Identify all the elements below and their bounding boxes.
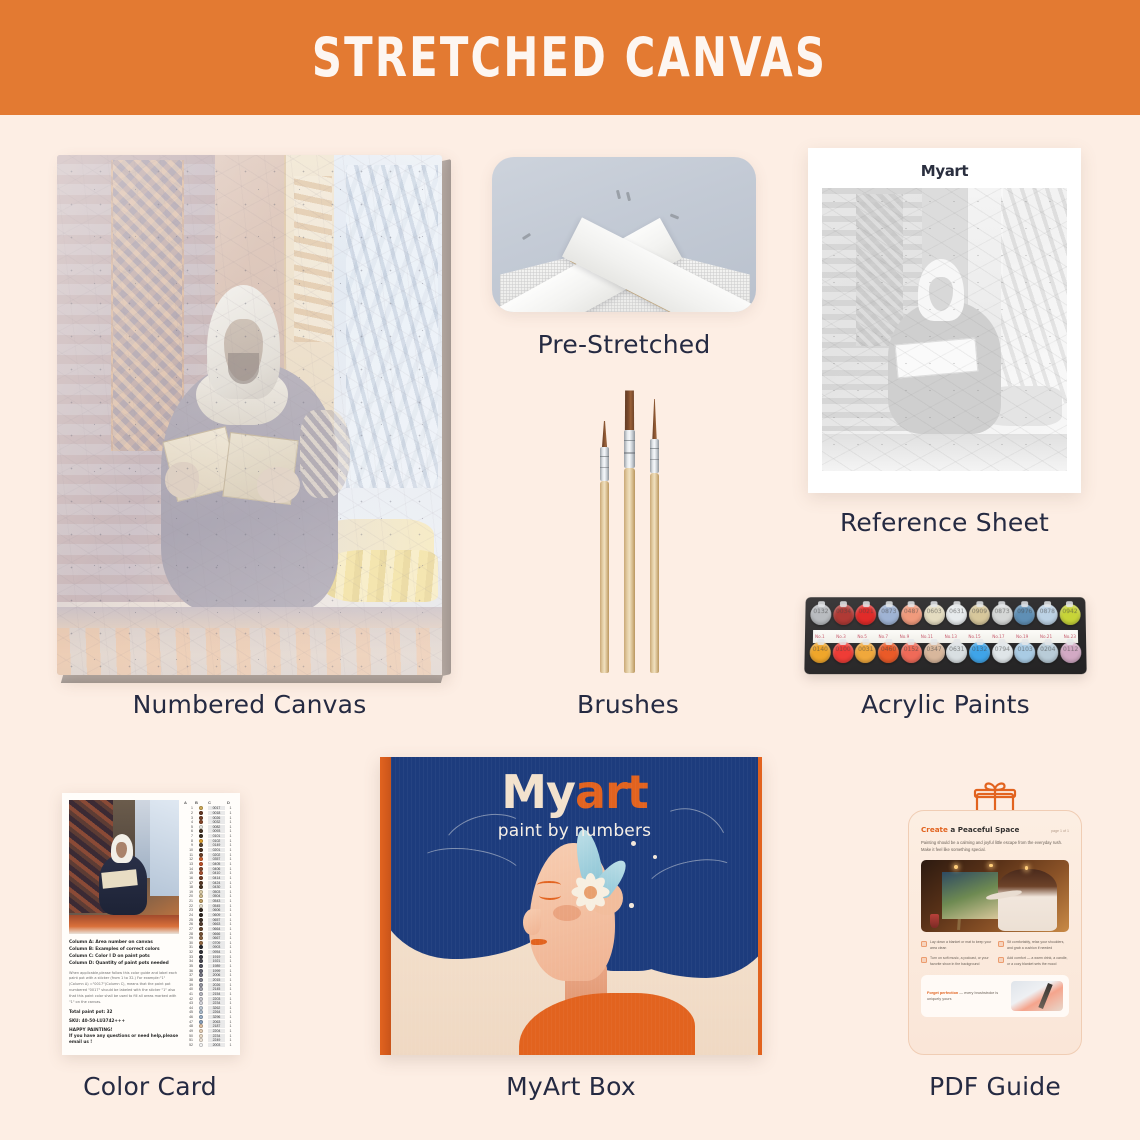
- color-card-col-head: C: [208, 800, 225, 805]
- tip-text: Lay down a blanket or mat to keep your a…: [930, 940, 992, 951]
- paint-pot-id: 0631: [946, 608, 967, 615]
- pdf-guide-note-accent: Forget perfection: [927, 991, 958, 995]
- paint-pot: 0034: [833, 602, 854, 631]
- paint-pot-id: 0103: [1015, 646, 1036, 653]
- paint-pot: 0631: [946, 640, 967, 669]
- tip-text: Sit comfortably, relax your shoulders, a…: [1007, 940, 1069, 951]
- color-card-column-b: Column B: Examples of correct colors: [69, 946, 179, 953]
- paint-pot: 0631: [946, 602, 967, 631]
- paint-pot: 0132: [969, 640, 990, 669]
- color-card-col-head: D: [227, 800, 234, 805]
- pdf-guide-image: Create a Peaceful Space page 1 of 1 Pain…: [900, 780, 1090, 1055]
- paint-pot-id: 0132: [810, 608, 831, 615]
- row-color-swatch: [195, 1043, 206, 1047]
- canvas-edge-right: [442, 159, 451, 676]
- color-card-table-header: ABCD: [184, 800, 234, 805]
- daisy-center: [584, 886, 597, 899]
- paint-pot: 0976: [1014, 602, 1035, 631]
- paint-pot-id: 0873: [878, 608, 899, 615]
- myart-tagline: paint by numbers: [391, 821, 758, 841]
- paint-pot-id: 0460: [878, 646, 899, 653]
- tip-text: Add comfort — a warm drink, a candle, or…: [1007, 956, 1069, 967]
- paint-pot-id: 0034: [833, 608, 854, 615]
- color-card-total: Total paint pot: 32: [69, 1009, 179, 1016]
- tip-icon: [921, 957, 927, 963]
- paint-pot-id: 0873: [992, 608, 1013, 615]
- caption-pdf-guide: PDF Guide: [895, 1072, 1095, 1101]
- staple-icon: [626, 192, 631, 201]
- paint-pot: 0873: [878, 602, 899, 631]
- paint-pot: 0942: [1059, 602, 1080, 631]
- paint-pot: 0878: [1037, 602, 1058, 631]
- paint-pot: 0603: [924, 602, 945, 631]
- acrylic-paints-image: 0132003400210873048706030631090908730976…: [804, 597, 1086, 674]
- pdf-guide-photo: [921, 860, 1069, 932]
- paint-pot-id: 0132: [969, 646, 990, 653]
- myart-box-image: Myart paint by numbers: [380, 757, 762, 1055]
- pdf-guide-page-label: page 1 of 1: [1051, 829, 1069, 833]
- paint-pot-id: 0100: [832, 646, 853, 653]
- canvas-edge-bottom: [61, 675, 443, 683]
- row-color-id: 2003: [208, 1043, 225, 1047]
- paint-pot-id: 0976: [1014, 608, 1035, 615]
- pdf-guide-tips: Lay down a blanket or mat to keep your a…: [921, 940, 1069, 967]
- paint-pot-id: 0031: [855, 646, 876, 653]
- row-area-number: 52: [184, 1043, 193, 1047]
- color-card-sku: SKU: 40-50-LU3742+++: [69, 1018, 179, 1025]
- paint-pot-id: 0021: [856, 608, 877, 615]
- tip-icon: [921, 941, 927, 947]
- color-card-note: When applicable,please follow this color…: [69, 971, 179, 1006]
- paint-pot: 0873: [992, 602, 1013, 631]
- canvas-face: [57, 155, 442, 675]
- pdf-guide-title-rest: a Peaceful Space: [948, 825, 1020, 834]
- paint-pot: 0103: [1015, 640, 1036, 669]
- color-card-column-a: Column A: Area number on canvas: [69, 939, 179, 946]
- color-card-col-head: B: [195, 800, 206, 805]
- brush-flat: [624, 390, 635, 673]
- color-card-contact: If you have any questions or need help,p…: [69, 1033, 179, 1046]
- logo-my: My: [501, 765, 575, 819]
- caption-reference-sheet: Reference Sheet: [808, 508, 1081, 537]
- row-quantity: 1: [227, 1043, 234, 1047]
- paint-pot: 0100: [832, 640, 853, 669]
- color-card-column-c: Column C: Color I D on paint pots: [69, 953, 179, 960]
- paint-pot-id: 0140: [810, 646, 831, 653]
- paint-pot-id: 0794: [992, 646, 1013, 653]
- staple-icon: [670, 213, 679, 219]
- paint-pot-id: 0909: [969, 608, 990, 615]
- paint-pot: 0347: [923, 640, 944, 669]
- reference-sheet-artwork: [822, 188, 1067, 471]
- caption-pre-stretched: Pre-Stretched: [492, 330, 756, 359]
- pdf-guide-note-thumbnail: [1011, 981, 1063, 1011]
- logo-art: art: [575, 765, 648, 819]
- pre-stretched-image: [492, 157, 756, 312]
- brush-detail: [650, 401, 659, 673]
- tip-text: Turn on soft music, a podcast, or your f…: [930, 956, 992, 967]
- paint-pot: 0112: [1060, 640, 1082, 669]
- page-title: STRETCHED CANVAS: [312, 26, 827, 89]
- pdf-guide-description: Painting should be a calming and joyful …: [921, 839, 1069, 853]
- paint-pot: 0487: [901, 602, 922, 631]
- tip-icon: [998, 941, 1004, 947]
- numbered-canvas-image: [57, 155, 442, 675]
- caption-color-card: Color Card: [40, 1072, 260, 1101]
- caption-acrylic-paints: Acrylic Paints: [805, 690, 1086, 719]
- paint-pot-id: 0347: [924, 646, 945, 653]
- product-infographic: STRETCHED CANVAS Numbered Canvas: [0, 0, 1140, 1140]
- pdf-guide-tip: Add comfort — a warm drink, a candle, or…: [998, 956, 1069, 967]
- paint-pot: 0132: [810, 602, 831, 631]
- paint-pot-number: No.9: [900, 634, 910, 639]
- pdf-guide-page: Create a Peaceful Space page 1 of 1 Pain…: [908, 810, 1082, 1055]
- paint-pot: 0794: [992, 640, 1013, 669]
- myart-logo: Myart paint by numbers: [391, 769, 758, 841]
- brush-fine: [600, 423, 609, 673]
- pdf-guide-title-accent: Create: [921, 825, 948, 834]
- caption-numbered-canvas: Numbered Canvas: [57, 690, 442, 719]
- reference-sheet-logo: Myart: [822, 162, 1067, 180]
- color-card-column-d: Column D: Quantity of paint pots needed: [69, 960, 179, 967]
- paint-pot-id: 0878: [1037, 608, 1058, 615]
- page-header: STRETCHED CANVAS: [0, 0, 1140, 115]
- staple-icon: [522, 233, 531, 240]
- tip-icon: [998, 957, 1004, 963]
- paint-pot: 0460: [878, 640, 899, 669]
- paint-pot-id: 0603: [924, 608, 945, 615]
- paint-pot: 0152: [901, 640, 922, 669]
- paint-pot-id: 0204: [1037, 646, 1058, 653]
- caption-brushes: Brushes: [528, 690, 728, 719]
- color-card-table-rows: 1001712001813002614003215008216009317010…: [184, 806, 234, 1047]
- pdf-guide-tip: Turn on soft music, a podcast, or your f…: [921, 956, 992, 967]
- paint-pot-id: 0631: [946, 646, 967, 653]
- paint-row-bottom: 0140010000310460015203470631013207940103…: [809, 640, 1081, 670]
- paint-pot-id: 0112: [1060, 646, 1081, 653]
- brushes-image: [578, 383, 682, 673]
- reference-sheet-image: Myart: [808, 148, 1081, 493]
- color-card-image: Column A: Area number on canvas Column B…: [62, 793, 240, 1055]
- paint-pot: 0204: [1037, 640, 1058, 669]
- paint-pot-id: 0487: [901, 608, 922, 615]
- paint-pot: 0021: [855, 602, 876, 631]
- paint-pot: 0140: [809, 640, 831, 669]
- daisy-flower-icon: [567, 869, 613, 915]
- caption-myart-box: MyArt Box: [380, 1072, 762, 1101]
- pdf-guide-note: Forget perfection — every brushstroke is…: [921, 975, 1069, 1017]
- pdf-guide-tip: Lay down a blanket or mat to keep your a…: [921, 940, 992, 951]
- paint-pot: 0909: [969, 602, 990, 631]
- color-card-artwork: [69, 800, 179, 934]
- color-card-col-head: A: [184, 800, 193, 805]
- paint-pot-id: 0942: [1059, 608, 1080, 615]
- pdf-guide-title: Create a Peaceful Space: [921, 825, 1019, 834]
- staple-icon: [616, 190, 621, 199]
- pdf-guide-tip: Sit comfortably, relax your shoulders, a…: [998, 940, 1069, 951]
- paint-row-top: 0132003400210873048706030631090908730976…: [810, 602, 1081, 632]
- paint-pot: 0031: [855, 640, 876, 669]
- color-card-row: 5220031: [184, 1043, 234, 1048]
- paint-pot-id: 0152: [901, 646, 922, 653]
